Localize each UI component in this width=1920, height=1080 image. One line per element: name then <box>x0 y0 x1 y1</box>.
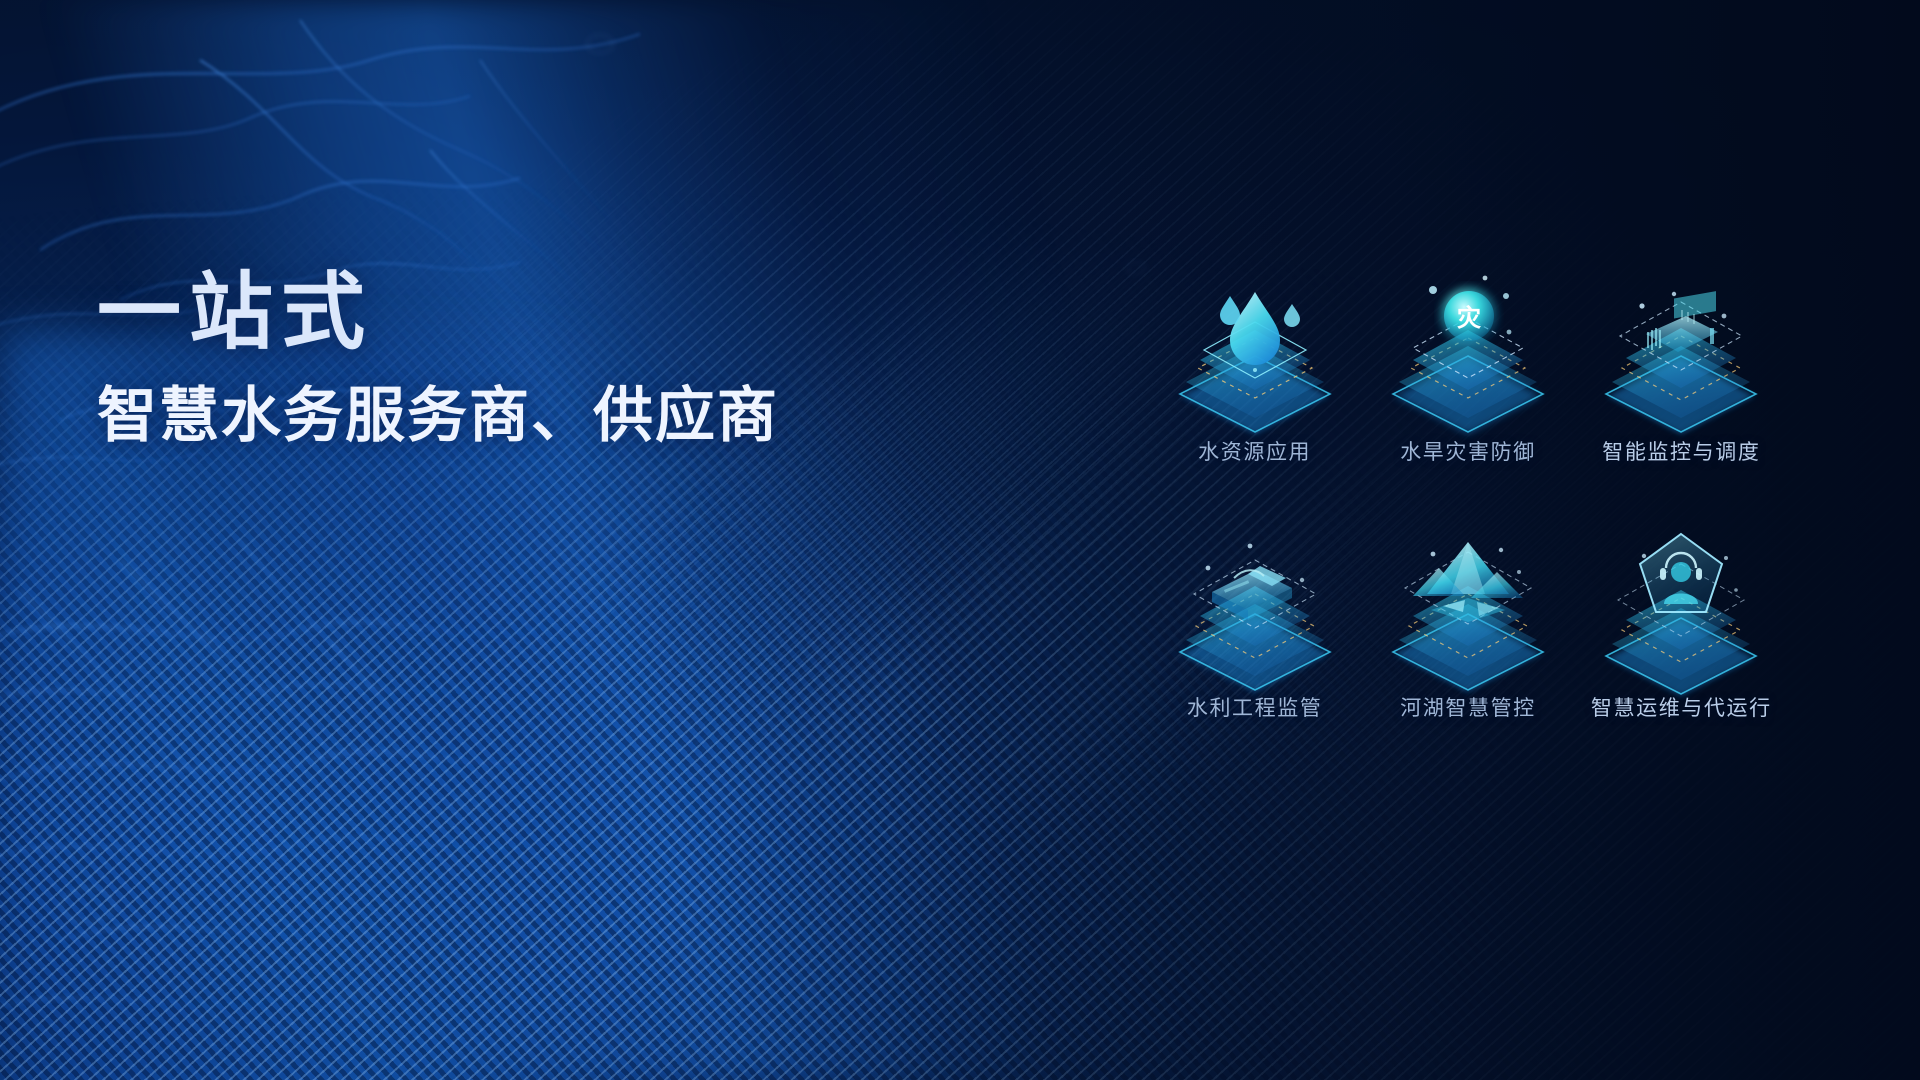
capability-label: 河湖智慧管控 <box>1400 692 1536 722</box>
mountain-lake-platform-icon <box>1373 528 1563 688</box>
disaster-badge-text: 灾 <box>1457 304 1481 332</box>
capability-grid: 水资源应用 <box>1148 272 1788 722</box>
capability-item[interactable]: 河湖智慧管控 <box>1361 528 1574 722</box>
hero-subheadline: 智慧水务服务商、供应商 <box>97 382 857 449</box>
capability-label: 水资源应用 <box>1198 436 1311 466</box>
capability-label: 智慧运维与代运行 <box>1591 692 1772 722</box>
capability-label: 水旱灾害防御 <box>1400 436 1536 466</box>
capability-label: 智能监控与调度 <box>1602 436 1760 466</box>
capability-item[interactable]: 水资源应用 <box>1148 272 1361 466</box>
dam-monitor-platform-icon <box>1586 272 1776 432</box>
shield-operator-platform-icon <box>1586 528 1776 688</box>
hero-text-block: 一站式 智慧水务服务商、供应商 <box>97 268 857 449</box>
capability-item[interactable]: 灾 水旱灾害防御 <box>1361 272 1574 466</box>
slide-canvas: 一站式 智慧水务服务商、供应商 <box>0 0 1920 1080</box>
hero-headline: 一站式 <box>97 268 857 356</box>
capability-label: 水利工程监管 <box>1187 692 1323 722</box>
capability-item[interactable]: 水利工程监管 <box>1148 528 1361 722</box>
water-drop-platform-icon <box>1160 272 1350 432</box>
hydro-facility-platform-icon <box>1160 528 1350 688</box>
capability-item[interactable]: 智能监控与调度 <box>1575 272 1788 466</box>
disaster-sphere-platform-icon: 灾 <box>1373 272 1563 432</box>
capability-item[interactable]: 智慧运维与代运行 <box>1575 528 1788 722</box>
